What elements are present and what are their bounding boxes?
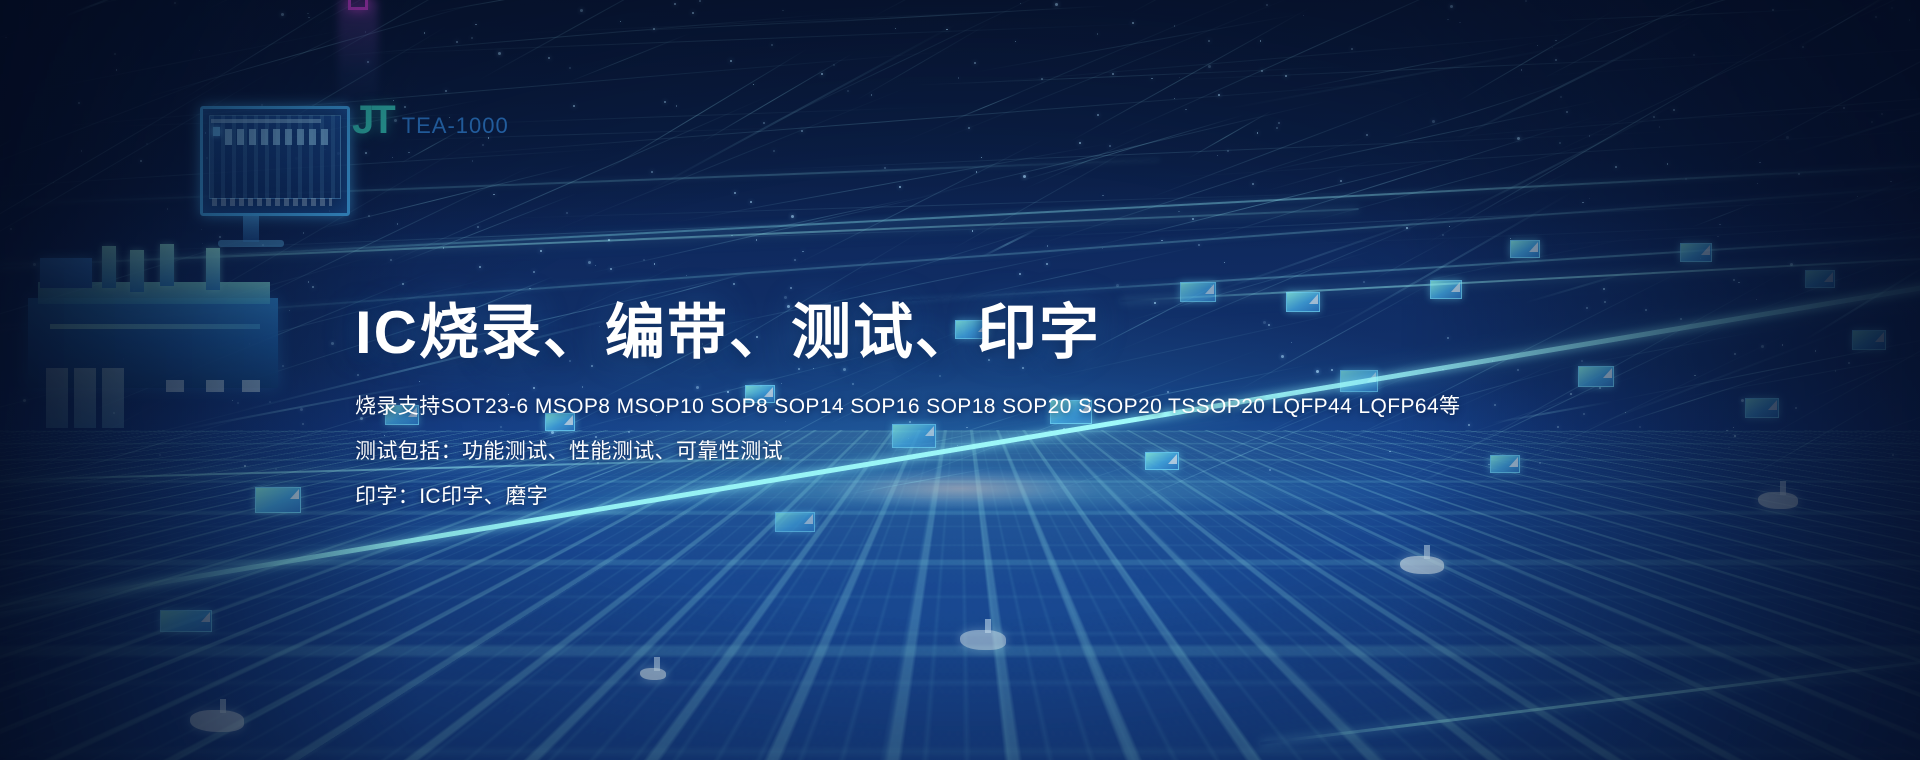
monitor-base <box>218 240 284 247</box>
logo-model-text: TEA-1000 <box>402 113 509 139</box>
horizon-glow <box>0 452 1920 522</box>
hero-banner: JT TEA-1000 IC烧录、编带、测试、印字 烧录支持SOT23-6 MS… <box>0 0 1920 760</box>
burn-in-machine <box>10 228 310 428</box>
right-vignette <box>1400 0 1920 760</box>
subline-tests: 测试包括：功能测试、性能测试、可靠性测试 <box>355 441 1655 462</box>
magenta-chip-icon <box>348 0 368 10</box>
circuit-floor <box>0 430 1920 760</box>
page-title: IC烧录、编带、测试、印字 <box>355 300 1655 366</box>
subline-packages: 烧录支持SOT23-6 MSOP8 MSOP10 SOP8 SOP14 SOP1… <box>355 396 1655 417</box>
monitor-keyboard <box>212 198 332 206</box>
magenta-glow <box>338 0 378 120</box>
monitor-stand <box>243 216 259 242</box>
subline-marking: 印字：IC印字、磨字 <box>355 486 1655 507</box>
banner-sublines: 烧录支持SOT23-6 MSOP8 MSOP10 SOP8 SOP14 SOP1… <box>355 396 1655 507</box>
banner-content: IC烧录、编带、测试、印字 烧录支持SOT23-6 MSOP8 MSOP10 S… <box>355 300 1655 531</box>
